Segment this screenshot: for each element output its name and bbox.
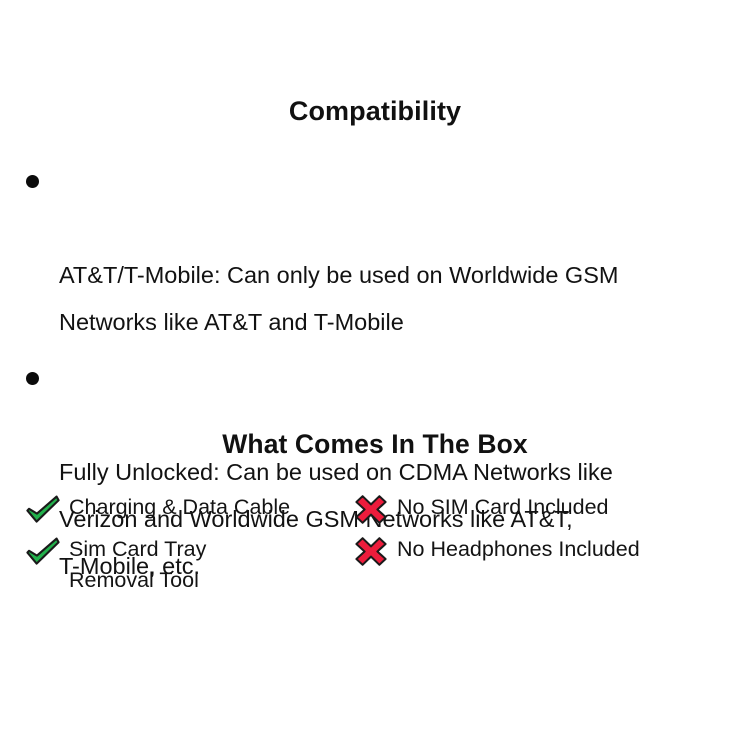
product-info-panel: Compatibility AT&T/T-Mobile: Can only be… <box>0 0 750 750</box>
list-item: AT&T/T-Mobile: Can only be used on World… <box>26 158 736 346</box>
list-item: No Headphones Included <box>354 534 750 567</box>
not-included-item-label: No Headphones Included <box>397 534 640 565</box>
green-check-icon <box>26 494 60 525</box>
box-contents-heading: What Comes In The Box <box>0 429 750 460</box>
not-included-item-label: No SIM Card Included <box>397 492 609 523</box>
compatibility-bullet-text: AT&T/T-Mobile: Can only be used on World… <box>59 262 618 335</box>
compatibility-heading: Compatibility <box>0 96 750 127</box>
list-item: Charging & Data Cable <box>26 492 350 525</box>
list-item: Sim Card Tray Removal Tool <box>26 534 350 596</box>
box-contents-grid: Charging & Data Cable Sim Card Tray Remo… <box>0 492 750 605</box>
bullet-dot-icon <box>26 372 39 385</box>
bullet-dot-icon <box>26 175 39 188</box>
included-item-label: Sim Card Tray Removal Tool <box>69 534 206 596</box>
not-included-items-column: No SIM Card Included No Headphones Inclu… <box>350 492 750 576</box>
green-check-icon <box>26 536 60 567</box>
included-item-label: Charging & Data Cable <box>69 492 290 523</box>
red-cross-icon <box>354 536 388 567</box>
included-items-column: Charging & Data Cable Sim Card Tray Remo… <box>0 492 350 605</box>
list-item: No SIM Card Included <box>354 492 750 525</box>
red-cross-icon <box>354 494 388 525</box>
